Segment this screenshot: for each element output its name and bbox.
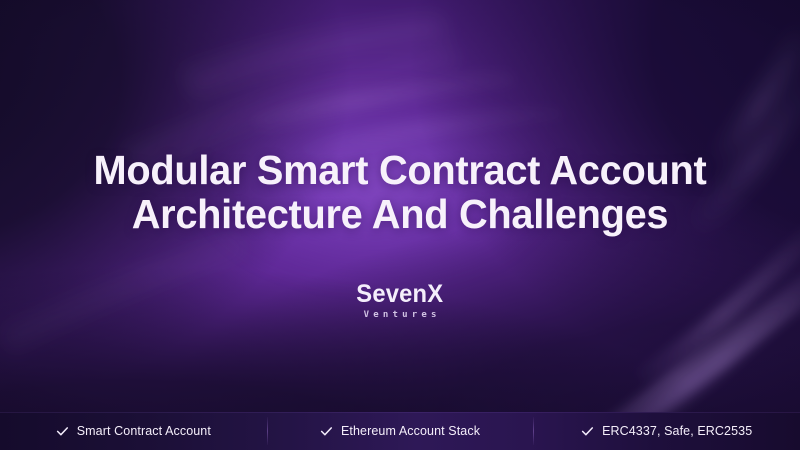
logo-name: SevenX [357, 282, 444, 307]
footer-item-erc-standards: ERC4337, Safe, ERC2535 [533, 412, 800, 450]
page-title: Modular Smart Contract Account Architect… [0, 148, 800, 236]
title-line-1: Modular Smart Contract Account [12, 148, 788, 192]
check-icon [581, 425, 594, 438]
footer-item-label: ERC4337, Safe, ERC2535 [602, 424, 752, 438]
title-line-2: Architecture And Challenges [12, 192, 788, 236]
check-icon [320, 425, 333, 438]
footer-item-smart-contract-account: Smart Contract Account [0, 412, 267, 450]
logo-tagline: Ventures [354, 310, 446, 320]
check-icon [56, 425, 69, 438]
footer-bar: Smart Contract Account Ethereum Account … [0, 412, 800, 450]
footer-item-label: Ethereum Account Stack [341, 424, 480, 438]
brand-logo: SevenX Ventures [0, 282, 800, 322]
presentation-slide: Modular Smart Contract Account Architect… [0, 0, 800, 450]
footer-item-label: Smart Contract Account [77, 424, 211, 438]
logo-mark: SevenX Ventures [354, 282, 446, 320]
footer-item-ethereum-account-stack: Ethereum Account Stack [267, 412, 534, 450]
